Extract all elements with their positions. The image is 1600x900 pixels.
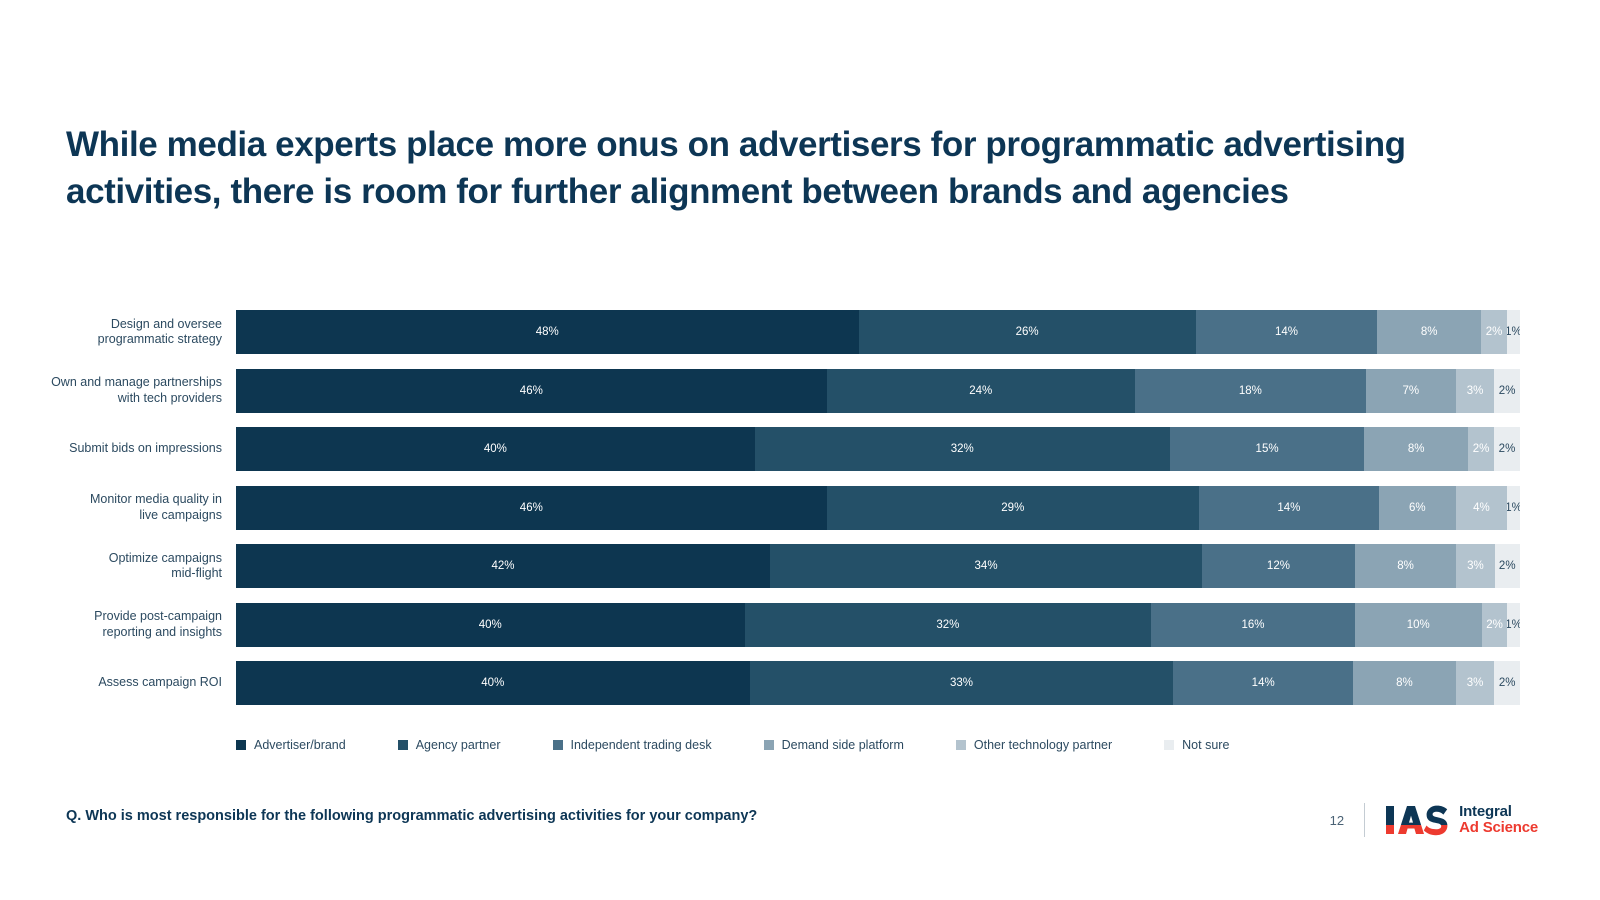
bar-segment: 14%	[1196, 310, 1378, 354]
ias-logo-line1: Integral	[1459, 804, 1538, 820]
ias-logo-mark	[1385, 803, 1451, 837]
legend-swatch-icon	[553, 740, 563, 750]
bar-segment: 12%	[1202, 544, 1355, 588]
bar-segment-value: 2%	[1473, 443, 1490, 455]
legend-swatch-icon	[398, 740, 408, 750]
bar-segment: 29%	[827, 486, 1199, 530]
bar-segment-value: 46%	[520, 502, 543, 514]
bar-segment-value: 42%	[491, 560, 514, 572]
bar-segment-value: 15%	[1256, 443, 1279, 455]
bar-segment: 8%	[1377, 310, 1481, 354]
bar-segment-value: 10%	[1407, 619, 1430, 631]
bar-segment-value: 3%	[1467, 560, 1484, 572]
legend-swatch-icon	[764, 740, 774, 750]
bar-segment-value: 1%	[1507, 326, 1520, 338]
chart-row-label: Own and manage partnershipswith tech pro…	[40, 375, 236, 406]
legend-label: Independent trading desk	[571, 738, 712, 752]
bar-segment-value: 2%	[1499, 560, 1516, 572]
legend-label: Advertiser/brand	[254, 738, 346, 752]
bar-segment: 15%	[1170, 427, 1365, 471]
bar-segment-value: 8%	[1397, 560, 1414, 572]
slide-root: While media experts place more onus on a…	[0, 0, 1600, 900]
legend-item[interactable]: Independent trading desk	[553, 738, 712, 752]
bar-segment: 46%	[236, 486, 827, 530]
ias-logo-text: Integral Ad Science	[1459, 804, 1538, 836]
chart-row: Monitor media quality inlive campaigns46…	[40, 479, 1520, 538]
legend-label: Not sure	[1182, 738, 1229, 752]
stacked-bar: 42%34%12%8%3%2%	[236, 544, 1520, 588]
bar-segment: 4%	[1456, 486, 1507, 530]
bar-segment-value: 29%	[1001, 502, 1024, 514]
bar-segment: 2%	[1481, 310, 1507, 354]
legend-item[interactable]: Not sure	[1164, 738, 1229, 752]
bar-segment: 40%	[236, 603, 745, 647]
bar-segment: 24%	[827, 369, 1135, 413]
ias-monogram-icon	[1385, 803, 1451, 837]
legend-swatch-icon	[1164, 740, 1174, 750]
bar-segment: 42%	[236, 544, 770, 588]
legend-swatch-icon	[236, 740, 246, 750]
bar-segment-value: 14%	[1277, 502, 1300, 514]
bar-segment: 6%	[1379, 486, 1456, 530]
bar-segment-value: 18%	[1239, 385, 1262, 397]
bar-segment-value: 2%	[1486, 619, 1503, 631]
bar-segment-value: 8%	[1421, 326, 1438, 338]
bar-segment: 48%	[236, 310, 859, 354]
bar-segment: 8%	[1353, 661, 1456, 705]
bar-segment-value: 8%	[1396, 677, 1413, 689]
bar-segment: 34%	[770, 544, 1202, 588]
bar-segment: 8%	[1355, 544, 1457, 588]
bar-segment-value: 2%	[1486, 326, 1503, 338]
chart-row-label: Optimize campaignsmid-flight	[40, 551, 236, 582]
bar-segment: 2%	[1495, 544, 1520, 588]
page-title: While media experts place more onus on a…	[66, 122, 1486, 215]
bar-segment-value: 3%	[1467, 677, 1484, 689]
chart-row-label: Monitor media quality inlive campaigns	[40, 492, 236, 523]
chart-row: Design and overseeprogrammatic strategy4…	[40, 303, 1520, 362]
bar-segment-value: 7%	[1403, 385, 1420, 397]
bar-segment: 7%	[1366, 369, 1456, 413]
bar-segment-value: 2%	[1499, 385, 1516, 397]
bar-segment-value: 14%	[1275, 326, 1298, 338]
bar-segment-value: 4%	[1473, 502, 1490, 514]
bar-segment-value: 32%	[936, 619, 959, 631]
bar-segment-value: 40%	[481, 677, 504, 689]
bar-segment: 1%	[1507, 310, 1520, 354]
bar-segment-value: 12%	[1267, 560, 1290, 572]
bar-segment: 46%	[236, 369, 827, 413]
bar-segment: 14%	[1199, 486, 1379, 530]
chart-row-label: Provide post-campaignreporting and insig…	[40, 609, 236, 640]
bar-segment: 32%	[755, 427, 1170, 471]
legend-label: Agency partner	[416, 738, 501, 752]
bar-segment: 3%	[1456, 369, 1495, 413]
bar-segment: 2%	[1494, 661, 1520, 705]
bar-segment-value: 24%	[969, 385, 992, 397]
bar-segment: 10%	[1355, 603, 1482, 647]
bar-segment: 2%	[1482, 603, 1507, 647]
bar-segment: 16%	[1151, 603, 1354, 647]
bar-segment: 2%	[1494, 369, 1520, 413]
bar-segment-value: 3%	[1467, 385, 1484, 397]
ias-logo: Integral Ad Science	[1385, 803, 1538, 837]
chart-row: Submit bids on impressions40%32%15%8%2%2…	[40, 420, 1520, 479]
bar-segment: 8%	[1364, 427, 1468, 471]
legend-swatch-icon	[956, 740, 966, 750]
bar-segment: 14%	[1173, 661, 1353, 705]
bar-segment: 40%	[236, 661, 750, 705]
footer-divider	[1364, 803, 1365, 837]
chart-legend: Advertiser/brandAgency partnerIndependen…	[236, 738, 1281, 752]
bar-segment: 32%	[745, 603, 1152, 647]
footer-right: 12	[1330, 800, 1538, 840]
chart-row-label: Submit bids on impressions	[40, 441, 236, 457]
bar-segment-value: 2%	[1499, 443, 1516, 455]
bar-segment-value: 34%	[975, 560, 998, 572]
stacked-bar: 46%24%18%7%3%2%	[236, 369, 1520, 413]
bar-segment: 3%	[1456, 661, 1495, 705]
bar-segment: 3%	[1456, 544, 1494, 588]
legend-item[interactable]: Demand side platform	[764, 738, 904, 752]
bar-segment-value: 16%	[1241, 619, 1264, 631]
chart-row: Provide post-campaignreporting and insig…	[40, 596, 1520, 655]
bar-segment-value: 40%	[479, 619, 502, 631]
bar-segment-value: 14%	[1252, 677, 1275, 689]
bar-segment-value: 2%	[1499, 677, 1516, 689]
bar-segment: 2%	[1468, 427, 1494, 471]
legend-label: Demand side platform	[782, 738, 904, 752]
chart-row: Assess campaign ROI40%33%14%8%3%2%	[40, 654, 1520, 713]
chart-row: Own and manage partnershipswith tech pro…	[40, 362, 1520, 421]
bar-segment-value: 32%	[951, 443, 974, 455]
chart-row: Optimize campaignsmid-flight42%34%12%8%3…	[40, 537, 1520, 596]
stacked-bar-chart: Design and overseeprogrammatic strategy4…	[40, 303, 1520, 715]
chart-row-label: Assess campaign ROI	[40, 675, 236, 691]
stacked-bar: 48%26%14%8%2%1%	[236, 310, 1520, 354]
chart-row-label: Design and overseeprogrammatic strategy	[40, 317, 236, 348]
bar-segment: 33%	[750, 661, 1174, 705]
bar-segment: 26%	[859, 310, 1196, 354]
ias-logo-line2: Ad Science	[1459, 820, 1538, 836]
bar-segment-value: 26%	[1016, 326, 1039, 338]
footer-question: Q. Who is most responsible for the follo…	[66, 808, 757, 824]
bar-segment: 2%	[1494, 427, 1520, 471]
bar-segment: 18%	[1135, 369, 1366, 413]
stacked-bar: 46%29%14%6%4%1%	[236, 486, 1520, 530]
bar-segment: 1%	[1507, 486, 1520, 530]
bar-segment-value: 1%	[1507, 502, 1520, 514]
stacked-bar: 40%32%15%8%2%2%	[236, 427, 1520, 471]
legend-item[interactable]: Agency partner	[398, 738, 501, 752]
bar-segment-value: 33%	[950, 677, 973, 689]
stacked-bar: 40%32%16%10%2%1%	[236, 603, 1520, 647]
stacked-bar: 40%33%14%8%3%2%	[236, 661, 1520, 705]
legend-item[interactable]: Other technology partner	[956, 738, 1112, 752]
legend-label: Other technology partner	[974, 738, 1112, 752]
bar-segment-value: 40%	[484, 443, 507, 455]
page-number: 12	[1330, 813, 1344, 828]
bar-segment-value: 6%	[1409, 502, 1426, 514]
bar-segment: 1%	[1507, 603, 1520, 647]
bar-segment-value: 8%	[1408, 443, 1425, 455]
bar-segment-value: 1%	[1507, 619, 1520, 631]
bar-segment-value: 46%	[520, 385, 543, 397]
bar-segment: 40%	[236, 427, 755, 471]
legend-item[interactable]: Advertiser/brand	[236, 738, 346, 752]
bar-segment-value: 48%	[536, 326, 559, 338]
